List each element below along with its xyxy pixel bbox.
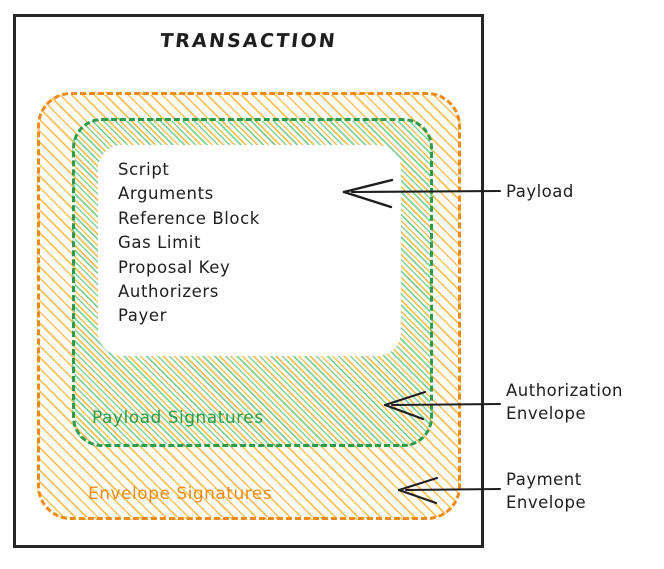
- payload-field-gas-limit: Gas Limit: [118, 231, 378, 255]
- payload-field-list: Script Arguments Reference Block Gas Lim…: [118, 158, 378, 329]
- payload-field-authorizers: Authorizers: [118, 280, 378, 304]
- payload-field-payer: Payer: [118, 304, 378, 328]
- payload-field-proposal-key: Proposal Key: [118, 256, 378, 280]
- callout-payment-line1: Payment: [506, 468, 586, 491]
- callout-label-authorization-envelope: Authorization Envelope: [506, 379, 623, 425]
- callout-authorization-line2: Envelope: [506, 402, 623, 425]
- callout-payment-line2: Envelope: [506, 491, 586, 514]
- callout-authorization-line1: Authorization: [506, 379, 623, 402]
- payload-signatures-label: Payload Signatures: [92, 408, 264, 428]
- payload-field-script: Script: [118, 158, 378, 182]
- callout-label-payload: Payload: [506, 180, 574, 203]
- page-title: TRANSACTION: [12, 30, 485, 52]
- callout-label-payment-envelope: Payment Envelope: [506, 468, 586, 514]
- payload-field-reference-block: Reference Block: [118, 207, 378, 231]
- payload-field-arguments: Arguments: [118, 182, 378, 206]
- diagram-canvas: TRANSACTION Script Arguments Reference B…: [0, 0, 664, 569]
- envelope-signatures-label: Envelope Signatures: [88, 484, 272, 504]
